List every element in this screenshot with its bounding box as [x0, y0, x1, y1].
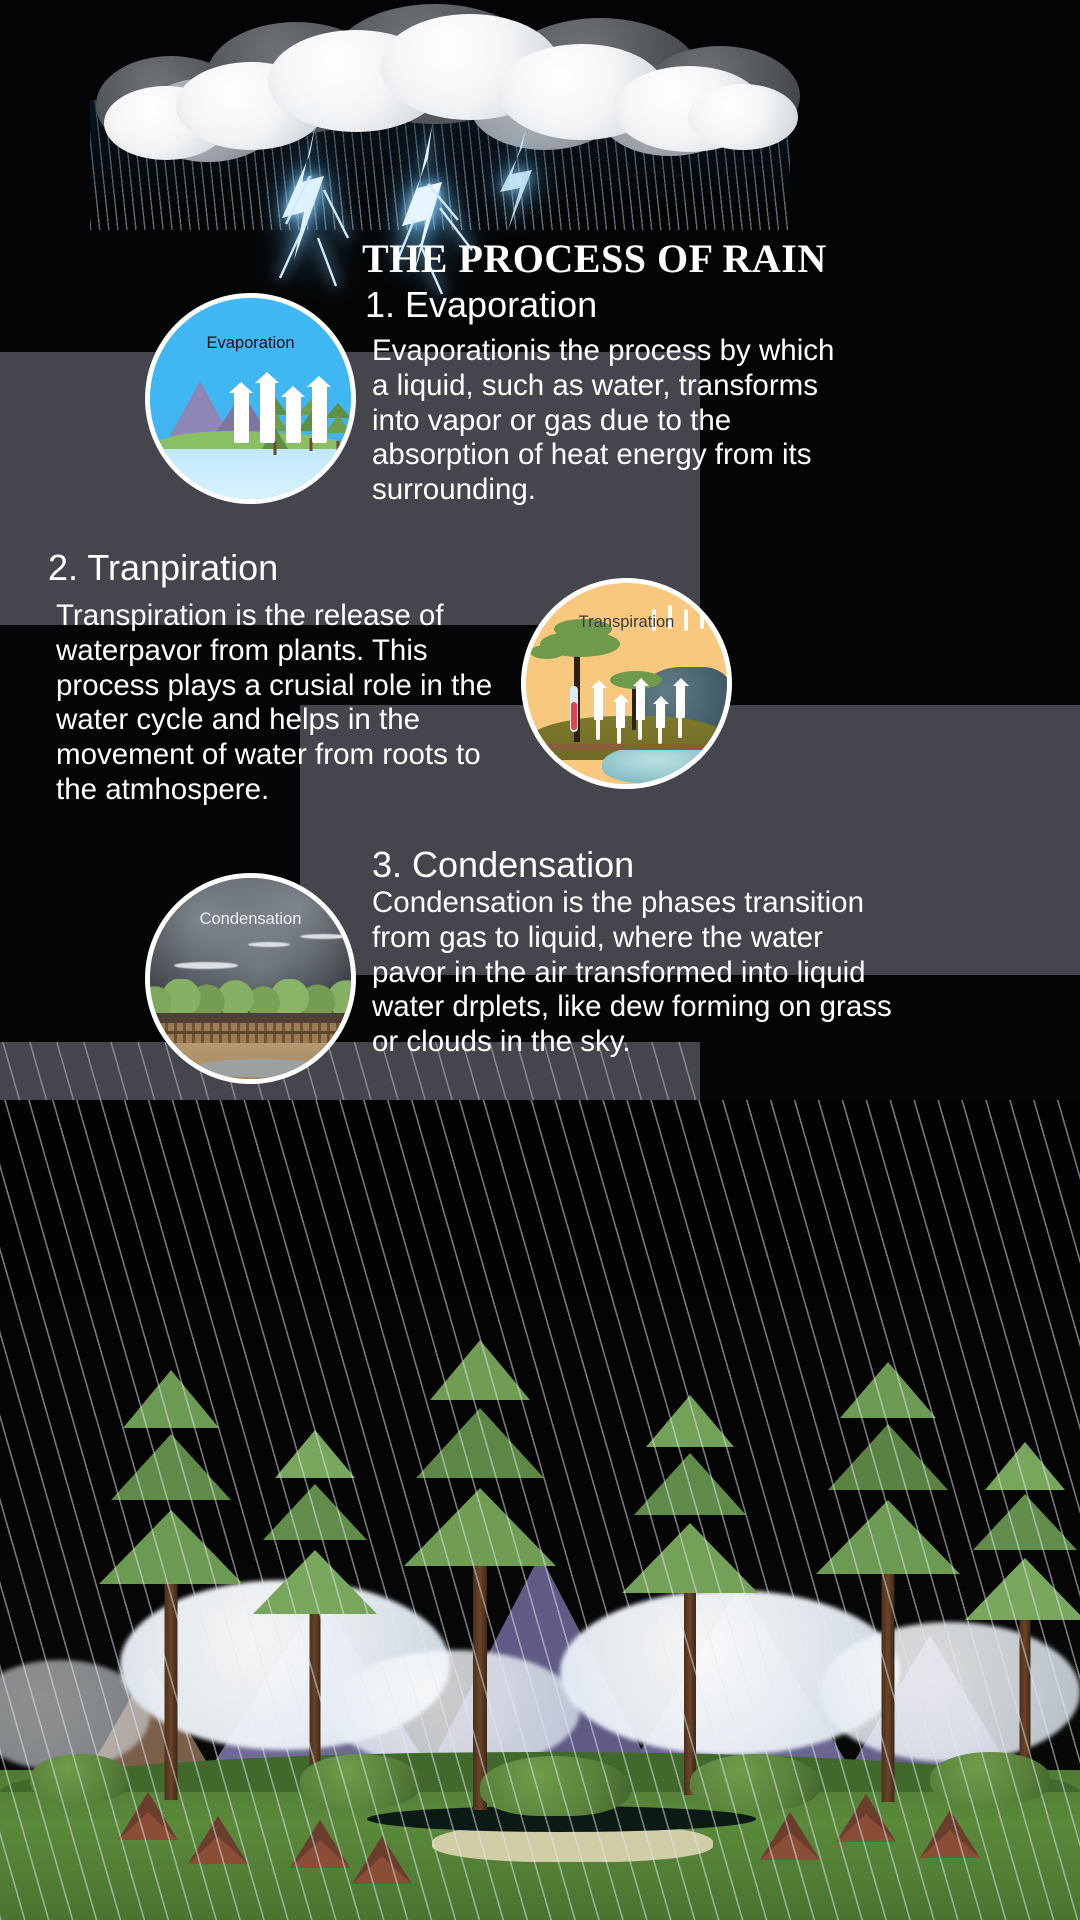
- section-heading-transpiration: 2. Tranpiration: [48, 549, 278, 587]
- vapor-arrow: [286, 395, 301, 443]
- thumbnail-label-condensation: Condensation: [150, 910, 351, 929]
- bush: [690, 1754, 820, 1810]
- rock-cone: [188, 1816, 248, 1864]
- soil-edge: [542, 744, 711, 750]
- condensation-treeline: [145, 979, 356, 1013]
- section-heading-evaporation: 1. Evaporation: [365, 286, 597, 324]
- lightning-bolt-icon: [486, 126, 576, 246]
- thumbnail-label-evaporation: Evaporation: [150, 334, 351, 353]
- cloud-streak: [174, 962, 238, 969]
- bush: [930, 1752, 1050, 1804]
- vapor-arrow: [636, 684, 645, 720]
- rock-cone: [836, 1794, 896, 1842]
- pine-tree: [326, 403, 350, 453]
- pine-tree: [250, 1430, 380, 1790]
- storm-cloud-white: [688, 84, 798, 150]
- rock-cone: [118, 1792, 178, 1840]
- lightning-bolt-icon: [258, 120, 368, 300]
- tree-canopy: [530, 645, 564, 659]
- wooden-fence: [150, 1023, 351, 1045]
- section-body-transpiration: Transpiration is the release of waterpav…: [56, 599, 526, 808]
- pine-tree: [96, 1370, 246, 1800]
- vapor-squiggle: [638, 718, 642, 740]
- vapor-arrow: [234, 391, 249, 443]
- cloud-streak: [300, 934, 348, 939]
- page-title: THE PROCESS OF RAIN: [362, 239, 1002, 279]
- vapor-squiggle: [617, 726, 621, 744]
- thumbnail-transpiration: Transpiration: [521, 578, 732, 789]
- section-body-evaporation: Evaporationis the process by which a liq…: [372, 334, 842, 508]
- rock-cone: [760, 1812, 820, 1860]
- vapor-squiggle: [596, 718, 600, 740]
- water-puddle: [194, 1059, 323, 1077]
- thumbnail-label-transpiration: Transpiration: [526, 613, 727, 632]
- bush: [480, 1756, 630, 1816]
- bush: [30, 1754, 130, 1802]
- thumbnail-condensation: Condensation: [145, 873, 356, 1084]
- vapor-arrow: [656, 702, 665, 728]
- cloud-streak: [248, 942, 290, 947]
- bush: [300, 1754, 420, 1808]
- pine-tree: [810, 1362, 965, 1802]
- rock-cone: [352, 1836, 412, 1884]
- section-heading-condensation: 3. Condensation: [372, 846, 634, 884]
- vapor-squiggle: [658, 726, 662, 744]
- forest-rain-scene: [0, 1100, 1080, 1920]
- pine-tree: [960, 1442, 1080, 1792]
- rock-cone: [290, 1820, 350, 1868]
- evaporation-lake: [150, 445, 351, 499]
- vapor-arrow: [594, 686, 603, 720]
- vapor-arrow: [260, 381, 275, 443]
- thumbnail-evaporation: Evaporation: [145, 293, 356, 504]
- pine-tree: [400, 1340, 560, 1810]
- section-body-condensation: Condensation is the phases transition fr…: [372, 886, 902, 1060]
- pine-tree: [620, 1395, 760, 1795]
- vapor-squiggle: [678, 716, 682, 738]
- thermometer-icon: [570, 686, 578, 732]
- rock-cone: [920, 1810, 980, 1858]
- vapor-arrow: [616, 700, 625, 728]
- vapor-arrow: [676, 684, 685, 718]
- vapor-arrow: [312, 385, 327, 443]
